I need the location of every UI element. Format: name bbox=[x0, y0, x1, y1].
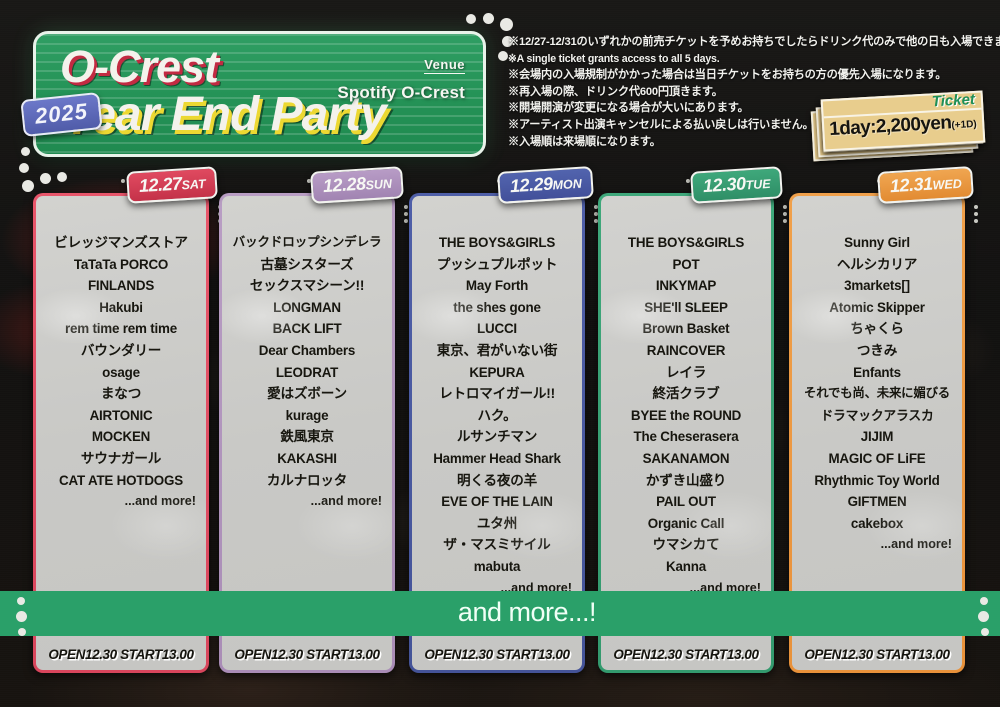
lineup-item: 鉄風東京 bbox=[228, 426, 386, 448]
day-of-week: MON bbox=[552, 177, 582, 193]
lineup-item: INKYMAP bbox=[607, 275, 765, 297]
and-more-banner-text: and more...! bbox=[458, 597, 596, 628]
date-badge: 12.28SUN bbox=[310, 166, 404, 204]
lineup-item: SAKANAMON bbox=[607, 448, 765, 470]
lineup-item: Rhythmic Toy World bbox=[798, 470, 956, 492]
lineup-item: プッシュプルポット bbox=[418, 254, 576, 276]
lineup-item: ザ・マスミサイル bbox=[418, 534, 576, 556]
lineup-item: THE BOYS&GIRLS bbox=[607, 232, 765, 254]
lineup-item: Organic Call bbox=[607, 513, 765, 535]
lineup-item: Enfants bbox=[798, 362, 956, 384]
lineup-item: AIRTONIC bbox=[42, 405, 200, 427]
lineup-item: CAT ATE HOTDOGS bbox=[42, 470, 200, 492]
lineup-item: PAIL OUT bbox=[607, 491, 765, 513]
lineup-list: Sunny Girl ヘルシカリア 3markets[] Atomic Skip… bbox=[792, 196, 962, 560]
lineup-item: ヘルシカリア bbox=[798, 254, 956, 276]
and-more-note: ...and more! bbox=[228, 491, 386, 511]
ticket-stack: Ticket 1day:2,200yen(+1D) bbox=[812, 95, 984, 163]
lineup-item: レトロマイガール!! bbox=[418, 383, 576, 405]
lineup-item: GIFTMEN bbox=[798, 491, 956, 513]
open-start-time: OPEN12.30 START13.00 bbox=[222, 647, 392, 662]
and-more-note: ...and more! bbox=[42, 491, 200, 511]
lineup-item: KAKASHI bbox=[228, 448, 386, 470]
date-badge: 12.27SAT bbox=[126, 166, 217, 204]
lineup-item: Hammer Head Shark bbox=[418, 448, 576, 470]
lineup-item: Brown Basket bbox=[607, 318, 765, 340]
lineup-item: mabuta bbox=[418, 556, 576, 578]
lineup-item: Atomic Skipper bbox=[798, 297, 956, 319]
lineup-item: JIJIM bbox=[798, 426, 956, 448]
lineup-item: KEPURA bbox=[418, 362, 576, 384]
lineup-item: カルナロッタ bbox=[228, 470, 386, 492]
lineup-item: ウマシカて bbox=[607, 534, 765, 556]
and-more-banner: and more...! bbox=[0, 591, 1000, 636]
date-badge: 12.31WED bbox=[877, 166, 974, 204]
lineup-item: セックスマシーン!! bbox=[228, 275, 386, 297]
lineup-item: LEODRAT bbox=[228, 362, 386, 384]
lineup-item: レイラ bbox=[607, 362, 765, 384]
ticket-price-value: 1day:2,200yen bbox=[829, 112, 952, 140]
lineup-item: まなつ bbox=[42, 383, 200, 405]
title-plate: O-Crest Year End Party Venue Spotify O-C… bbox=[33, 31, 486, 157]
lineup-item: 終活クラブ bbox=[607, 383, 765, 405]
lineup-item: Sunny Girl bbox=[798, 232, 956, 254]
lineup-item: the shes gone bbox=[418, 297, 576, 319]
lineup-item: それでも尚、未来に媚びる bbox=[798, 383, 956, 405]
lineup-item: 古墓シスターズ bbox=[228, 254, 386, 276]
lineup-item: May Forth bbox=[418, 275, 576, 297]
lineup-item: osage bbox=[42, 362, 200, 384]
open-start-time: OPEN12.30 START13.00 bbox=[412, 647, 582, 662]
date-value: 12.29 bbox=[510, 174, 554, 197]
lineup-item: kurage bbox=[228, 405, 386, 427]
lineup-item: BYEE the ROUND bbox=[607, 405, 765, 427]
date-value: 12.27 bbox=[139, 173, 183, 196]
lineup-item: MAGIC OF LiFE bbox=[798, 448, 956, 470]
lineup-item: バックドロップシンデレラ bbox=[228, 232, 386, 254]
day-of-week: WED bbox=[932, 177, 962, 193]
lineup-item: かずき山盛り bbox=[607, 470, 765, 492]
lineup-item: サウナガール bbox=[42, 448, 200, 470]
lineup-item: Dear Chambers bbox=[228, 340, 386, 362]
lineup-item: つきみ bbox=[798, 340, 956, 362]
lineup-item: 明くる夜の羊 bbox=[418, 470, 576, 492]
open-start-time: OPEN12.30 START13.00 bbox=[792, 647, 962, 662]
lineup-item: RAINCOVER bbox=[607, 340, 765, 362]
ticket-label: Ticket bbox=[931, 91, 975, 110]
venue-name: Spotify O-Crest bbox=[337, 83, 465, 103]
lineup-item: TaTaTa PORCO bbox=[42, 254, 200, 276]
date-value: 12.31 bbox=[890, 174, 934, 197]
and-more-note: ...and more! bbox=[798, 534, 956, 554]
lineup-item: 東京、君がいない街 bbox=[418, 340, 576, 362]
lineup-item: SHE'll SLEEP bbox=[607, 297, 765, 319]
lineup-item: The Cheserasera bbox=[607, 426, 765, 448]
ticket-front: Ticket 1day:2,200yen(+1D) bbox=[821, 91, 986, 152]
lineup-item: FINLANDS bbox=[42, 275, 200, 297]
open-start-time: OPEN12.30 START13.00 bbox=[601, 647, 771, 662]
lineup-list: バックドロップシンデレラ 古墓シスターズ セックスマシーン!! LONGMAN … bbox=[222, 196, 392, 517]
lineup-item: BACK LIFT bbox=[228, 318, 386, 340]
lineup-item: THE BOYS&GIRLS bbox=[418, 232, 576, 254]
lineup-item: rem time rem time bbox=[42, 318, 200, 340]
date-badge: 12.29MON bbox=[497, 166, 594, 204]
lineup-list: THE BOYS&GIRLS プッシュプルポット May Forth the s… bbox=[412, 196, 582, 604]
venue-block: Venue Spotify O-Crest bbox=[337, 56, 465, 103]
lineup-item: 3markets[] bbox=[798, 275, 956, 297]
note-item: ※会場内の入場規制がかかった場合は当日チケットをお持ちの方の優先入場になります。 bbox=[508, 67, 992, 84]
date-value: 12.28 bbox=[322, 173, 366, 196]
lineup-item: Hakubi bbox=[42, 297, 200, 319]
lineup-item: POT bbox=[607, 254, 765, 276]
lineup-list: THE BOYS&GIRLS POT INKYMAP SHE'll SLEEP … bbox=[601, 196, 771, 604]
day-of-week: SAT bbox=[182, 177, 207, 192]
open-start-time: OPEN12.30 START13.00 bbox=[36, 647, 206, 662]
lineup-item: LONGMAN bbox=[228, 297, 386, 319]
date-badge: 12.30TUE bbox=[691, 166, 783, 204]
lineup-item: ドラマックアラスカ bbox=[798, 405, 956, 427]
lineup-item: ルサンチマン bbox=[418, 426, 576, 448]
lineup-list: ビレッジマンズストア TaTaTa PORCO FINLANDS Hakubi … bbox=[36, 196, 206, 517]
date-value: 12.30 bbox=[703, 173, 747, 196]
note-item: ※12/27-12/31のいずれかの前売チケットを予めお持ちでしたらドリンク代の… bbox=[508, 34, 992, 51]
lineup-item: バウンダリー bbox=[42, 340, 200, 362]
lineup-item: EVE OF THE LAIN bbox=[418, 491, 576, 513]
lineup-item: Kanna bbox=[607, 556, 765, 578]
ticket-price: 1day:2,200yen(+1D) bbox=[829, 111, 977, 141]
lineup-item: ビレッジマンズストア bbox=[42, 232, 200, 254]
venue-label: Venue bbox=[424, 57, 465, 74]
lineup-item: 愛はズボーン bbox=[228, 383, 386, 405]
lineup-item: ユタ州 bbox=[418, 513, 576, 535]
lineup-item: ちゃくら bbox=[798, 318, 956, 340]
day-of-week: TUE bbox=[746, 177, 772, 193]
lineup-item: cakebox bbox=[798, 513, 956, 535]
lineup-item: MOCKEN bbox=[42, 426, 200, 448]
ticket-price-suffix: (+1D) bbox=[951, 119, 977, 131]
day-of-week: SUN bbox=[365, 177, 392, 193]
lineup-item: ハク。 bbox=[418, 405, 576, 427]
note-item: ※A single ticket grants access to all 5 … bbox=[508, 51, 992, 68]
lineup-item: LUCCI bbox=[418, 318, 576, 340]
